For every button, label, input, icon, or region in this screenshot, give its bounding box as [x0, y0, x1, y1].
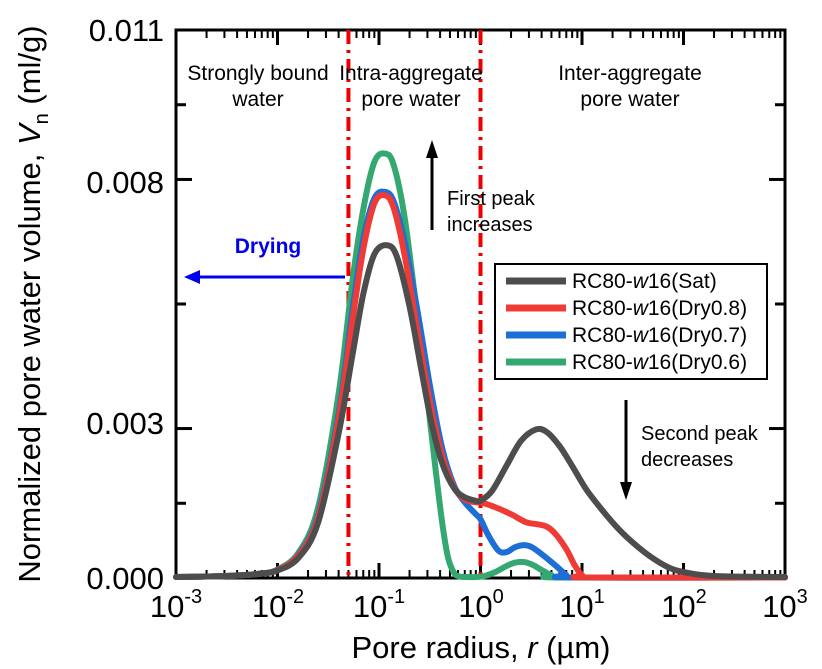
- annotation-second-peak-line2: decreases: [641, 449, 733, 471]
- annotation-drying-label: Drying: [235, 235, 302, 258]
- y-tick-label-2: 0.008: [86, 165, 164, 200]
- region-label-intra-aggregate-line1: Intra-aggregate: [339, 62, 483, 85]
- legend-label-3: RC80-w16(Dry0.6): [572, 351, 747, 374]
- region-label-inter-aggregate-line1: Inter-aggregate: [558, 62, 702, 85]
- region-label-intra-aggregate-line2: pore water: [361, 88, 460, 111]
- y-tick-label-0: 0.000: [86, 561, 164, 596]
- legend: RC80-w16(Sat)RC80-w16(Dry0.8)RC80-w16(Dr…: [495, 264, 767, 379]
- region-label-strongly-bound-water-line1: Strongly bound: [187, 62, 328, 85]
- legend-label-1: RC80-w16(Dry0.8): [572, 297, 747, 320]
- figure-container: 10-3 10-2 10-1 100 101 102 103 0.000 0.0…: [0, 0, 822, 669]
- annotation-first-peak-line1: First peak: [447, 188, 536, 210]
- legend-label-0: RC80-w16(Sat): [572, 270, 717, 293]
- annotation-second-peak-line1: Second peak: [641, 423, 759, 445]
- x-axis-title: Pore radius, r (µm): [351, 630, 610, 665]
- y-tick-label-1: 0.003: [86, 406, 164, 441]
- region-label-strongly-bound-water-line2: water: [231, 88, 283, 111]
- region-label-inter-aggregate-line2: pore water: [580, 88, 679, 111]
- chart-svg: 10-3 10-2 10-1 100 101 102 103 0.000 0.0…: [0, 0, 822, 669]
- y-axis-title: Normalized pore water volume, Vn (ml/g): [12, 25, 53, 582]
- annotation-first-peak-line2: increases: [447, 214, 533, 236]
- y-tick-label-3: 0.011: [89, 13, 164, 48]
- legend-label-2: RC80-w16(Dry0.7): [572, 324, 747, 347]
